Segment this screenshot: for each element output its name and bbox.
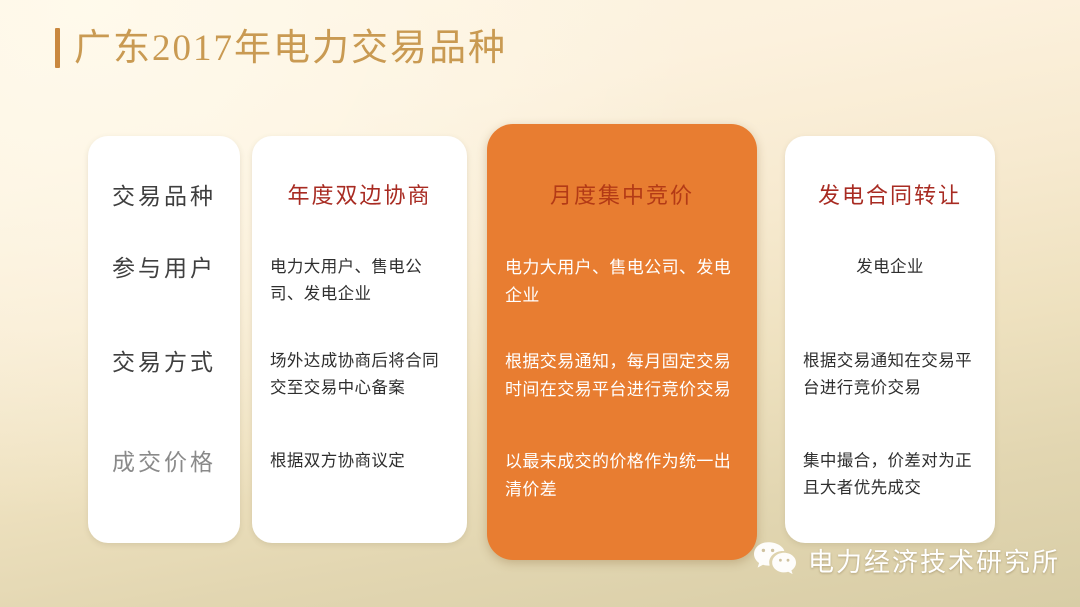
column-header-monthly-centralized-bidding: 月度集中竞价: [505, 182, 739, 210]
card-header-row: 年度双边协商: [252, 182, 467, 226]
wechat-icon: [752, 540, 798, 581]
participants-text-generation-contract-transfer: 发电企业: [803, 254, 977, 281]
row-label-participants: 参与用户: [106, 254, 222, 284]
label-row-2: 参与用户: [88, 254, 240, 326]
label-row-4: 成交价格: [88, 448, 240, 520]
price-text-annual-bilateral: 根据双方协商议定: [270, 448, 449, 475]
price-text-monthly-centralized-bidding: 以最末成交的价格作为统一出清价差: [505, 448, 739, 503]
card-header-row: 发电合同转让: [785, 182, 995, 226]
row-label-category: 交易品种: [106, 182, 222, 212]
row-label-method: 交易方式: [106, 348, 222, 378]
slide-title: 广东2017年电力交易品种: [55, 20, 507, 76]
title-accent-bar: [55, 28, 60, 68]
card-participants-row: 发电企业: [785, 254, 995, 326]
card-participants-row: 电力大用户、售电公司、发电企业: [487, 254, 757, 326]
watermark-label: 电力经济技术研究所: [808, 542, 1060, 579]
column-card-annual-bilateral[interactable]: 年度双边协商 电力大用户、售电公司、发电企业 场外达成协商后将合同交至交易中心备…: [252, 136, 467, 543]
column-header-annual-bilateral: 年度双边协商: [270, 182, 449, 210]
method-text-generation-contract-transfer: 根据交易通知在交易平台进行竞价交易: [803, 348, 977, 401]
column-card-generation-contract-transfer[interactable]: 发电合同转让 发电企业 根据交易通知在交易平台进行竞价交易 集中撮合，价差对为正…: [785, 136, 995, 543]
slide-canvas: 广东2017年电力交易品种 交易品种 参与用户 交易方式 成交价格 年度双边协商…: [0, 0, 1080, 607]
card-price-row: 集中撮合，价差对为正且大者优先成交: [785, 448, 995, 520]
page-title: 广东2017年电力交易品种: [74, 30, 507, 67]
method-text-annual-bilateral: 场外达成协商后将合同交至交易中心备案: [270, 348, 449, 401]
label-row-3: 交易方式: [88, 348, 240, 428]
card-price-row: 以最末成交的价格作为统一出清价差: [487, 448, 757, 520]
card-method-row: 根据交易通知，每月固定交易时间在交易平台进行竞价交易: [487, 348, 757, 428]
card-participants-row: 电力大用户、售电公司、发电企业: [252, 254, 467, 326]
column-header-generation-contract-transfer: 发电合同转让: [803, 182, 977, 210]
card-header-row: 月度集中竞价: [487, 182, 757, 226]
price-text-generation-contract-transfer: 集中撮合，价差对为正且大者优先成交: [803, 448, 977, 501]
column-card-monthly-centralized-bidding[interactable]: 月度集中竞价 电力大用户、售电公司、发电企业 根据交易通知，每月固定交易时间在交…: [487, 124, 757, 560]
row-label-price: 成交价格: [106, 448, 222, 478]
label-row-1: 交易品种: [88, 182, 240, 226]
label-column-card: 交易品种 参与用户 交易方式 成交价格: [88, 136, 240, 543]
card-method-row: 场外达成协商后将合同交至交易中心备案: [252, 348, 467, 428]
participants-text-monthly-centralized-bidding: 电力大用户、售电公司、发电企业: [505, 254, 739, 309]
watermark: 电力经济技术研究所: [752, 540, 1060, 581]
method-text-monthly-centralized-bidding: 根据交易通知，每月固定交易时间在交易平台进行竞价交易: [505, 348, 739, 403]
participants-text-annual-bilateral: 电力大用户、售电公司、发电企业: [270, 254, 449, 307]
card-method-row: 根据交易通知在交易平台进行竞价交易: [785, 348, 995, 428]
card-price-row: 根据双方协商议定: [252, 448, 467, 520]
